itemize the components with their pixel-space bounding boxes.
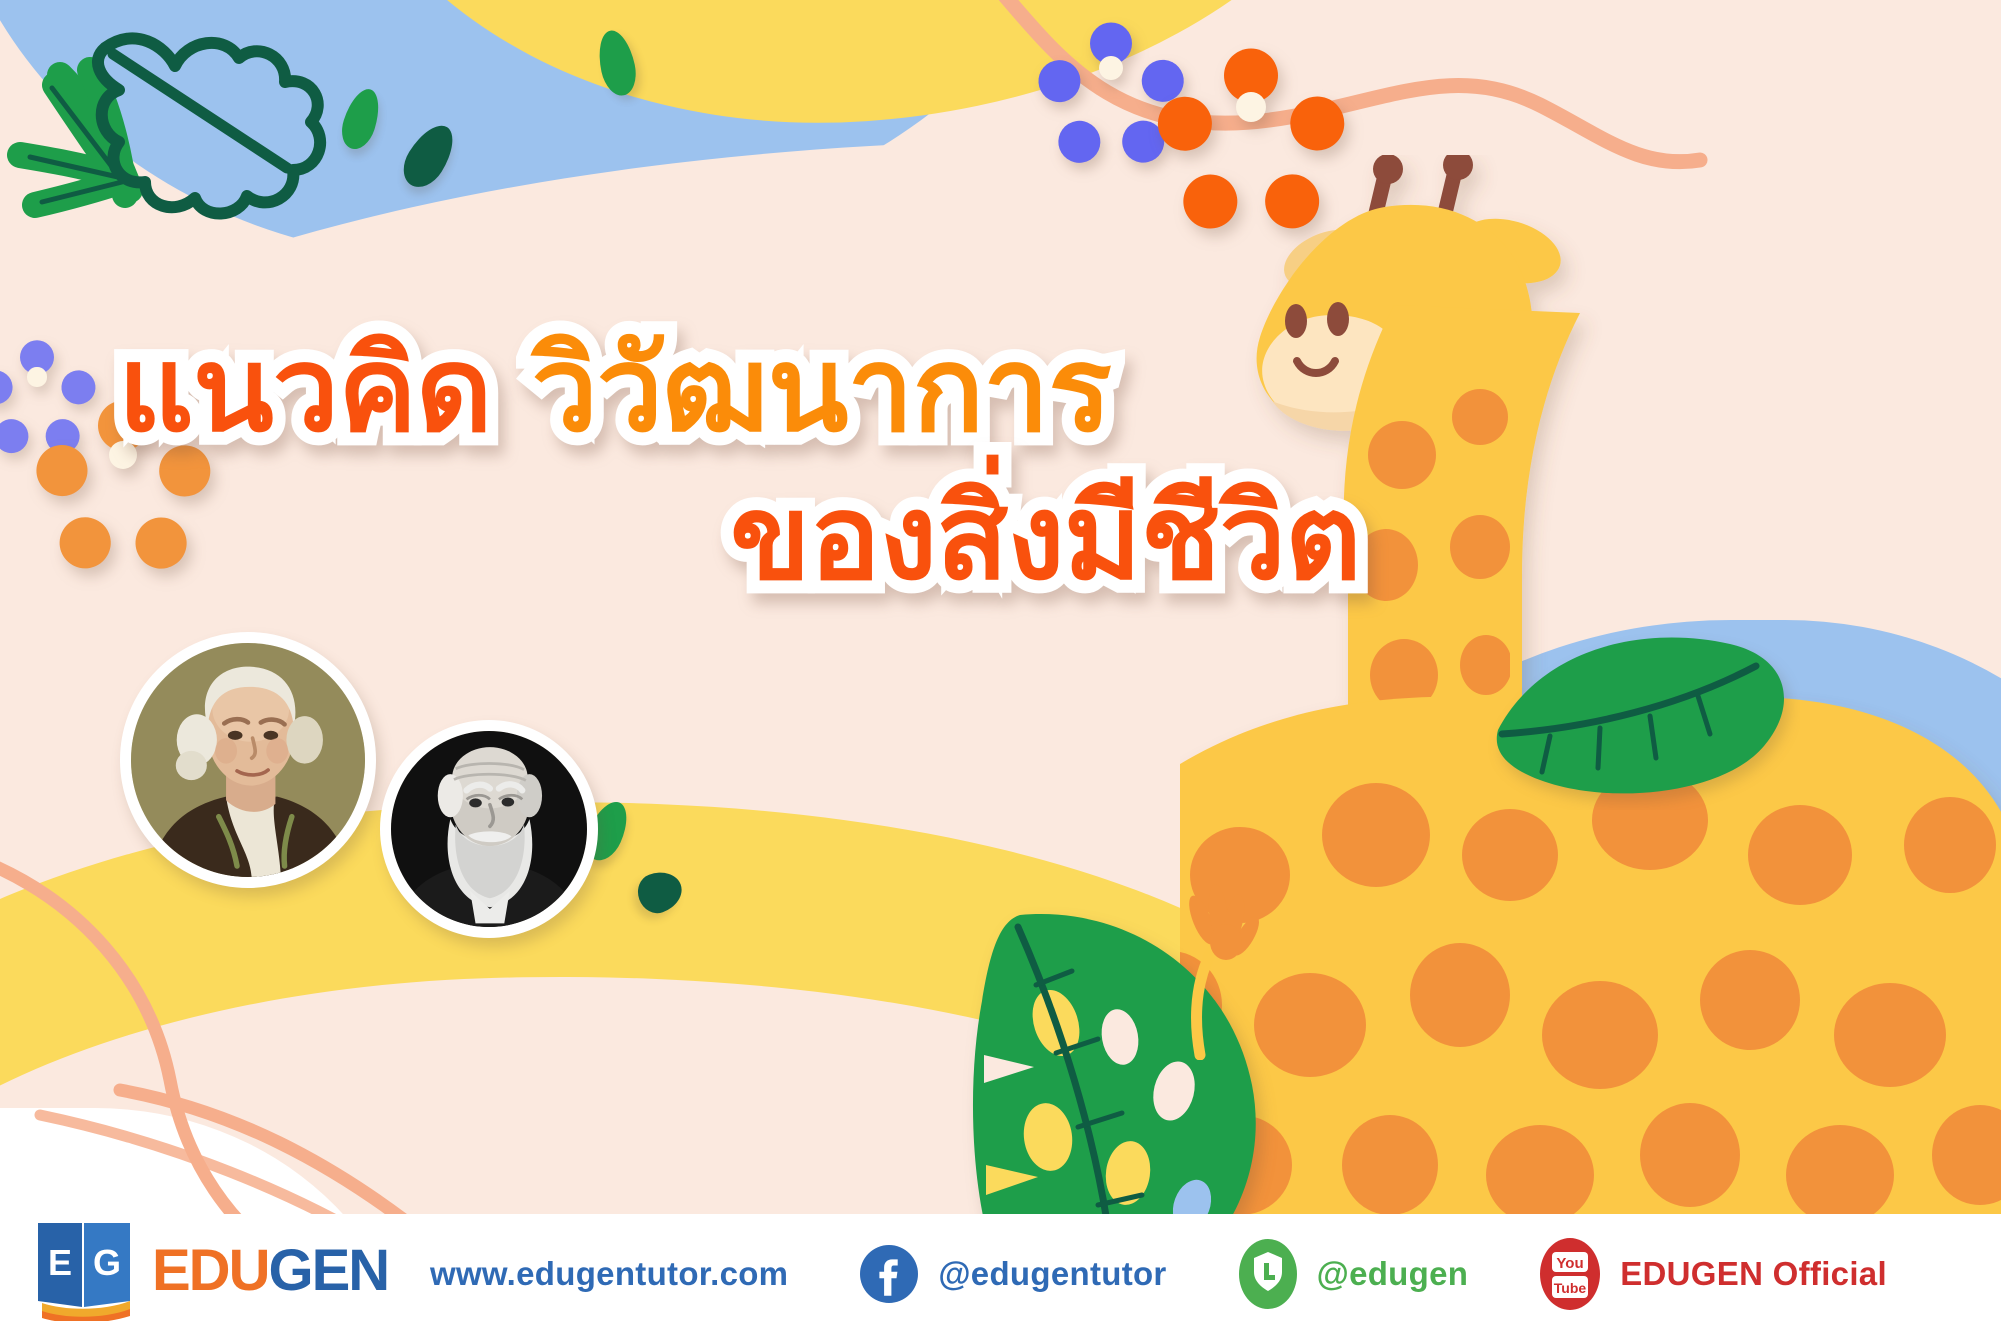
title-space [492, 320, 532, 458]
title-word-evolution: วิวัฒนาการ [532, 320, 1111, 458]
footer-line[interactable]: @edugen [1239, 1239, 1469, 1309]
youtube-handle-text: EDUGEN Official [1620, 1255, 1887, 1293]
title-word-of-living-things: ของสิ่งมีชีวิต [730, 468, 1361, 606]
edugen-logo[interactable]: E G EDUGEN [30, 1218, 390, 1322]
footer-youtube[interactable]: You Tube EDUGEN Official [1540, 1238, 1887, 1310]
logo-letter-e: E [48, 1242, 72, 1283]
youtube-icon-top-text: You [1557, 1255, 1584, 1272]
flower-orange-icon [1192, 48, 1310, 166]
facebook-handle-text: @edugentutor [938, 1255, 1166, 1293]
facebook-icon[interactable] [860, 1245, 918, 1303]
line-icon[interactable] [1239, 1239, 1297, 1309]
title-word-concept: แนวคิด [118, 320, 492, 458]
title-line-2: ของสิ่งมีชีวิต [730, 478, 1361, 596]
portrait-darwin-image [391, 731, 587, 927]
footer-website[interactable]: www.edugentutor.com [430, 1255, 788, 1293]
flower-purple-icon [1065, 22, 1157, 114]
title-line-1: แนวคิด วิวัฒนาการ [118, 330, 1111, 448]
logo-word-edu: EDU [152, 1237, 268, 1304]
website-text: www.edugentutor.com [430, 1255, 788, 1293]
portrait-darwin [380, 720, 598, 938]
poster-canvas: แนวคิด วิวัฒนาการ ของสิ่งมีชีวิต [0, 0, 2001, 1334]
sprout-hand-icon [1140, 880, 1270, 1060]
flower-purple-left-icon [0, 340, 74, 414]
portrait-lamarck [120, 632, 376, 888]
youtube-icon[interactable]: You Tube [1540, 1238, 1600, 1310]
footer-facebook[interactable]: @edugentutor [860, 1245, 1166, 1303]
edugen-book-badge-icon: E G [30, 1219, 138, 1321]
tropical-leaf-right-icon [1480, 610, 1800, 810]
logo-word-gen: GEN [268, 1237, 388, 1304]
logo-letter-g: G [93, 1242, 121, 1283]
youtube-icon-bottom-text: Tube [1554, 1280, 1587, 1296]
line-handle-text: @edugen [1317, 1255, 1469, 1293]
edugen-wordmark: EDUGEN [152, 1237, 388, 1304]
portrait-lamarck-image [131, 643, 365, 877]
